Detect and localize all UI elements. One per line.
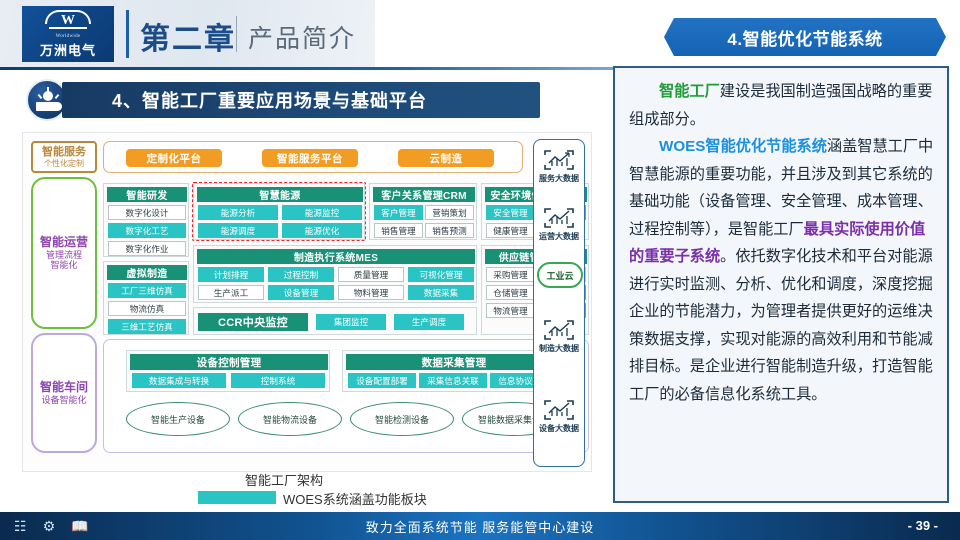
cell-customer-management[interactable]: 客户管理 bbox=[374, 205, 423, 220]
group-equipment-control: 设备控制管理 数据集成与转换 控制系统 bbox=[126, 350, 330, 392]
group-smart-rnd-title: 智能研发 bbox=[107, 187, 187, 202]
cell-factory-3d-sim[interactable]: 工厂三维仿真 bbox=[108, 283, 186, 298]
footer-slogan: 致力全面系统节能 服务能管中心建设 bbox=[0, 512, 960, 540]
cell-visual-management[interactable]: 可视化管理 bbox=[408, 267, 474, 282]
layer-tag-smart-service-sub: 个性化定制 bbox=[44, 159, 84, 168]
cell-warehouse-management[interactable]: 仓储管理 bbox=[486, 285, 535, 300]
group-data-collection-title: 数据采集管理 bbox=[346, 354, 562, 370]
device-smart-inspection[interactable]: 智能检测设备 bbox=[350, 402, 454, 436]
section-title-bar: 4、智能工厂重要应用场景与基础平台 bbox=[62, 82, 540, 118]
group-mes-title: 制造执行系统MES bbox=[197, 249, 475, 264]
chart-bracket-icon bbox=[542, 148, 576, 172]
rail-item-operation-bigdata[interactable]: 运营大数据 bbox=[537, 206, 581, 242]
cell-logistics-management[interactable]: 物流管理 bbox=[486, 303, 535, 318]
logo-mark-icon: W bbox=[45, 10, 91, 32]
rail-label-manufacturing-bigdata: 制造大数据 bbox=[537, 343, 581, 354]
layer-tag-smart-operation-main: 智能运营 bbox=[40, 236, 88, 250]
chart-bracket-icon bbox=[542, 318, 576, 342]
layer-tag-smart-workshop: 智能车间 设备智能化 bbox=[31, 333, 97, 453]
cell-plan-scheduling[interactable]: 计划排程 bbox=[198, 267, 264, 282]
para2-tail: 。依托数字化技术和平台对能源进行实时监测、分析、优化和调度，深度挖掘企业的节能潜… bbox=[629, 248, 933, 403]
smart-factory-architecture-diagram: 智能服务 个性化定制 智能运营 管理流程 智能化 智能车间 设备智能化 定制化平… bbox=[22, 132, 592, 472]
description-panel: 智能工厂建设是我国制造强国战略的重要组成部分。 WOES智能优化节能系统涵盖智慧… bbox=[613, 66, 949, 503]
layer-tag-smart-service-main: 智能服务 bbox=[42, 146, 86, 159]
layer-tag-smart-service: 智能服务 个性化定制 bbox=[31, 141, 97, 173]
cell-production-scheduling[interactable]: 生产调度 bbox=[394, 314, 464, 330]
company-logo: W Worldwide 万洲电气 bbox=[22, 6, 114, 62]
device-smart-production[interactable]: 智能生产设备 bbox=[126, 402, 230, 436]
platform-smart-service[interactable]: 智能服务平台 bbox=[262, 149, 358, 167]
logo-letter: W bbox=[54, 13, 82, 28]
cell-energy-monitoring[interactable]: 能源监控 bbox=[282, 205, 362, 220]
layer-tag-smart-operation-sub: 管理流程 智能化 bbox=[46, 250, 82, 271]
cell-energy-optimization[interactable]: 能源优化 bbox=[282, 223, 362, 238]
legend-color-swatch bbox=[198, 491, 276, 504]
description-paragraph-1: 智能工厂建设是我国制造强国战略的重要组成部分。 bbox=[629, 78, 935, 133]
highlight-woes: WOES智能优化节能系统 bbox=[659, 138, 827, 155]
workshop-container: 设备控制管理 数据集成与转换 控制系统 数据采集管理 设备配置部署 采集信息关联… bbox=[103, 339, 589, 453]
group-smart-energy-title: 智慧能源 bbox=[197, 187, 363, 202]
platform-customization[interactable]: 定制化平台 bbox=[126, 149, 222, 167]
cell-digital-design[interactable]: 数字化设计 bbox=[108, 205, 186, 220]
chapter-separator bbox=[236, 16, 237, 52]
group-ccr: CCR中央监控 集团监控 生产调度 bbox=[193, 307, 477, 335]
cell-energy-dispatch[interactable]: 能源调度 bbox=[198, 223, 278, 238]
group-equipment-control-title: 设备控制管理 bbox=[130, 354, 328, 370]
cell-process-control[interactable]: 过程控制 bbox=[268, 267, 334, 282]
group-crm: 客户关系管理CRM 客户管理 营销策划 销售管理 销售预测 bbox=[369, 183, 477, 240]
rail-label-equipment-bigdata: 设备大数据 bbox=[537, 423, 581, 434]
rail-label-service-bigdata: 服务大数据 bbox=[537, 173, 581, 184]
group-crm-title: 客户关系管理CRM bbox=[373, 187, 475, 202]
layer-tag-smart-workshop-sub: 设备智能化 bbox=[41, 395, 86, 405]
page-number: - 39 - bbox=[908, 518, 938, 533]
cell-data-integration-conversion[interactable]: 数据集成与转换 bbox=[132, 373, 226, 388]
cell-sales-management[interactable]: 销售管理 bbox=[374, 223, 423, 238]
industrial-cloud-badge[interactable]: 工业云 bbox=[537, 262, 583, 288]
right-panel-title-text: 4.智能优化节能系统 bbox=[727, 25, 882, 50]
group-mes: 制造执行系统MES 计划排程 过程控制 质量管理 可视化管理 生产派工 设备管理… bbox=[193, 245, 477, 303]
chart-bracket-icon bbox=[542, 398, 576, 422]
group-virtual-manufacturing: 虚拟制造 工厂三维仿真 物流仿真 三维工艺仿真 bbox=[103, 261, 189, 335]
cell-safety-management[interactable]: 安全管理 bbox=[486, 205, 535, 220]
sitemap-icon[interactable]: ☷ bbox=[14, 518, 27, 534]
cell-3d-process-sim[interactable]: 三维工艺仿真 bbox=[108, 319, 186, 334]
rail-item-equipment-bigdata[interactable]: 设备大数据 bbox=[537, 398, 581, 434]
page-footer: 致力全面系统节能 服务能管中心建设 ☷ ⚙ 📖 - 39 - bbox=[0, 512, 960, 540]
cell-sales-forecast[interactable]: 销售预测 bbox=[425, 223, 474, 238]
cell-data-acquisition[interactable]: 数据采集 bbox=[408, 285, 474, 300]
section-title-text: 4、智能工厂重要应用场景与基础平台 bbox=[112, 87, 427, 113]
group-virtual-manufacturing-title: 虚拟制造 bbox=[107, 265, 187, 280]
platform-row: 定制化平台 智能服务平台 云制造 bbox=[103, 141, 523, 173]
highlight-smart-factory: 智能工厂 bbox=[659, 83, 720, 100]
footer-icon-group: ☷ ⚙ 📖 bbox=[14, 518, 89, 534]
right-panel-title-chip: 4.智能优化节能系统 bbox=[664, 18, 946, 56]
bigdata-rail: 服务大数据 运营大数据 工业云 制造大数据 bbox=[533, 139, 585, 467]
cell-energy-analysis[interactable]: 能源分析 bbox=[198, 205, 278, 220]
cell-logistics-sim[interactable]: 物流仿真 bbox=[108, 301, 186, 316]
book-icon[interactable]: 📖 bbox=[71, 518, 88, 534]
rail-label-operation-bigdata: 运营大数据 bbox=[537, 231, 581, 242]
chapter-title: 第二章 bbox=[140, 14, 236, 58]
layer-tag-smart-operation: 智能运营 管理流程 智能化 bbox=[31, 177, 97, 329]
chart-bracket-icon bbox=[542, 206, 576, 230]
cell-quality-management[interactable]: 质量管理 bbox=[338, 267, 404, 282]
cell-procurement-management[interactable]: 采购管理 bbox=[486, 267, 535, 282]
cell-digital-operation[interactable]: 数字化作业 bbox=[108, 241, 186, 256]
platform-cloud-manufacturing[interactable]: 云制造 bbox=[398, 149, 494, 167]
rail-item-manufacturing-bigdata[interactable]: 制造大数据 bbox=[537, 318, 581, 354]
cell-control-system[interactable]: 控制系统 bbox=[231, 373, 325, 388]
cell-digital-process[interactable]: 数字化工艺 bbox=[108, 223, 186, 238]
cell-production-dispatch[interactable]: 生产派工 bbox=[198, 285, 264, 300]
cell-marketing-planning[interactable]: 营销策划 bbox=[425, 205, 474, 220]
cell-group-monitoring[interactable]: 集团监控 bbox=[316, 314, 386, 330]
device-smart-logistics[interactable]: 智能物流设备 bbox=[238, 402, 342, 436]
logo-chinese-name: 万洲电气 bbox=[40, 40, 96, 59]
cell-collection-info-link[interactable]: 采集信息关联 bbox=[419, 373, 487, 388]
group-smart-rnd: 智能研发 数字化设计 数字化工艺 数字化作业 bbox=[103, 183, 189, 257]
group-smart-energy: 智慧能源 能源分析 能源监控 能源调度 能源优化 bbox=[193, 183, 365, 240]
chapter-subtitle: 产品简介 bbox=[248, 19, 356, 55]
cell-device-config-deploy[interactable]: 设备配置部署 bbox=[348, 373, 416, 388]
group-data-collection: 数据采集管理 设备配置部署 采集信息关联 信息协议转换 bbox=[342, 350, 564, 392]
cell-health-management[interactable]: 健康管理 bbox=[486, 223, 535, 238]
atom-icon[interactable]: ⚙ bbox=[43, 518, 56, 534]
header-divider bbox=[126, 10, 129, 58]
logo-english-name: Worldwide bbox=[56, 34, 81, 39]
legend-label: WOES系统涵盖功能板块 bbox=[283, 489, 427, 508]
layer-tag-smart-workshop-main: 智能车间 bbox=[40, 381, 88, 395]
diagram-caption: 智能工厂架构 bbox=[245, 470, 323, 489]
group-ccr-title: CCR中央监控 bbox=[198, 313, 308, 331]
cell-equipment-management[interactable]: 设备管理 bbox=[268, 285, 334, 300]
description-paragraph-2: WOES智能优化节能系统涵盖智慧工厂中智慧能源的重要功能，并且涉及到其它系统的基… bbox=[629, 133, 935, 408]
cell-material-management[interactable]: 物料管理 bbox=[338, 285, 404, 300]
rail-item-service-bigdata[interactable]: 服务大数据 bbox=[537, 148, 581, 184]
